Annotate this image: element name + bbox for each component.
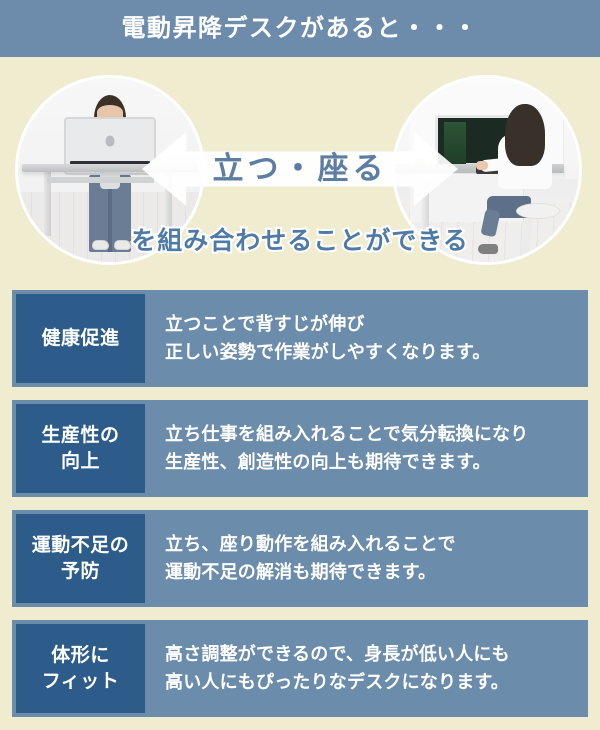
feature-description: 立ち、座り動作を組み入れることで 運動不足の解消も期待できます。	[145, 510, 588, 607]
feature-label-line: 体形に	[51, 643, 110, 669]
page-title: 電動昇降デスクがあると・・・	[122, 17, 479, 41]
hero-section: 立つ・座る を組み合わせることができる	[0, 57, 600, 290]
hero-main-text: 立つ・座る	[0, 153, 600, 184]
feature-label-line: 予防	[61, 559, 100, 585]
feature-row: 生産性の 向上 立ち仕事を組み入れることで気分転換になり 生産性、創造性の向上も…	[12, 400, 588, 497]
feature-description-line: 生産性、創造性の向上も期待できます。	[165, 449, 588, 477]
feature-label-line: 向上	[61, 449, 100, 475]
feature-label-line: 健康促進	[41, 326, 119, 352]
feature-description-line: 立ち仕事を組み入れることで気分転換になり	[165, 421, 588, 449]
header-bar: 電動昇降デスクがあると・・・	[0, 0, 600, 57]
feature-label: 健康促進	[16, 294, 145, 383]
feature-description: 立ち仕事を組み入れることで気分転換になり 生産性、創造性の向上も期待できます。	[145, 400, 588, 497]
feature-description-line: 高い人にもぴったりなデスクになります。	[165, 669, 588, 697]
feature-label-line: フィット	[42, 669, 120, 695]
feature-row: 健康促進 立つことで背すじが伸び 正しい姿勢で作業がしやすくなります。	[12, 290, 588, 387]
feature-list: 健康促進 立つことで背すじが伸び 正しい姿勢で作業がしやすくなります。 生産性の…	[0, 290, 600, 730]
feature-label-line: 生産性の	[41, 423, 119, 449]
apple-logo-icon	[106, 136, 115, 147]
feature-label: 運動不足の 予防	[16, 514, 145, 603]
feature-description-line: 正しい姿勢で作業がしやすくなります。	[165, 339, 588, 367]
feature-description: 立つことで背すじが伸び 正しい姿勢で作業がしやすくなります。	[145, 290, 588, 387]
hero-sub-text: を組み合わせることができる	[0, 229, 600, 254]
feature-row: 運動不足の 予防 立ち、座り動作を組み入れることで 運動不足の解消も期待できます…	[12, 510, 588, 607]
feature-description-line: 立つことで背すじが伸び	[165, 311, 588, 339]
feature-row: 体形に フィット 高さ調整ができるので、身長が低い人にも 高い人にもぴったりなデ…	[12, 620, 588, 717]
feature-description-line: 運動不足の解消も期待できます。	[165, 559, 588, 587]
feature-label-line: 運動不足の	[32, 533, 130, 559]
feature-label: 体形に フィット	[16, 624, 145, 713]
feature-description-line: 立ち、座り動作を組み入れることで	[165, 531, 588, 559]
feature-description-line: 高さ調整ができるので、身長が低い人にも	[165, 641, 588, 669]
feature-label: 生産性の 向上	[16, 404, 145, 493]
infographic-page: 電動昇降デスクがあると・・・	[0, 0, 600, 730]
feature-description: 高さ調整ができるので、身長が低い人にも 高い人にもぴったりなデスクになります。	[145, 620, 588, 717]
